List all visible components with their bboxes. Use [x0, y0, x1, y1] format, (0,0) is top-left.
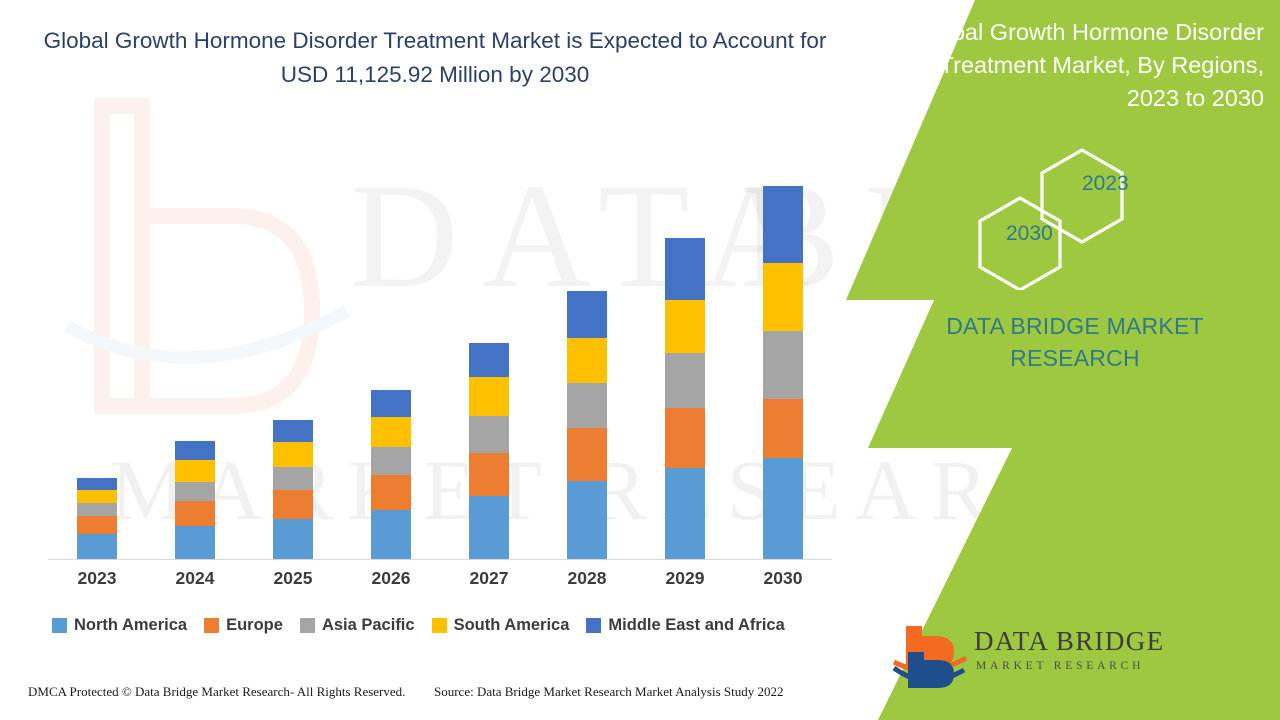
- segment-north-america: [763, 458, 803, 559]
- legend-item-south-america[interactable]: South America: [432, 616, 570, 635]
- x-axis-line: [48, 559, 832, 560]
- x-label-2029: 2029: [640, 568, 730, 589]
- segment-middle-east-and-africa: [273, 420, 313, 442]
- segment-south-america: [665, 300, 705, 353]
- segment-south-america: [469, 377, 509, 416]
- legend-swatch-icon: [586, 618, 601, 633]
- bar-2026: [371, 390, 411, 559]
- data-bridge-logo: DATA BRIDGE MARKET RESEARCH: [892, 622, 1192, 694]
- segment-south-america: [175, 460, 215, 482]
- segment-europe: [665, 408, 705, 468]
- legend-label: Middle East and Africa: [608, 616, 784, 635]
- page-title: Global Growth Hormone Disorder Treatment…: [30, 24, 840, 92]
- bar-2028: [567, 291, 607, 559]
- legend-swatch-icon: [52, 618, 67, 633]
- x-axis-labels: 20232024202520262027202820292030: [48, 568, 832, 596]
- segment-north-america: [567, 481, 607, 559]
- segment-asia-pacific: [665, 353, 705, 408]
- bar-2024: [175, 441, 215, 559]
- x-label-2030: 2030: [738, 568, 828, 589]
- segment-asia-pacific: [567, 383, 607, 428]
- segment-europe: [273, 490, 313, 519]
- segment-middle-east-and-africa: [567, 291, 607, 338]
- segment-south-america: [371, 417, 411, 447]
- segment-asia-pacific: [469, 416, 509, 453]
- segment-middle-east-and-africa: [469, 343, 509, 377]
- logo-mark-icon: [892, 622, 970, 692]
- legend-swatch-icon: [300, 618, 315, 633]
- footer-copyright: DMCA Protected © Data Bridge Market Rese…: [28, 684, 405, 700]
- segment-asia-pacific: [763, 331, 803, 399]
- segment-europe: [763, 399, 803, 458]
- segment-europe: [175, 501, 215, 526]
- segment-middle-east-and-africa: [77, 478, 117, 490]
- segment-europe: [371, 475, 411, 510]
- hexagon-group: 2023 2030: [970, 140, 1200, 290]
- x-label-2024: 2024: [150, 568, 240, 589]
- legend-label: Asia Pacific: [322, 616, 415, 635]
- x-label-2028: 2028: [542, 568, 632, 589]
- segment-north-america: [175, 526, 215, 559]
- segment-europe: [77, 516, 117, 534]
- segment-asia-pacific: [77, 503, 117, 516]
- legend-item-asia-pacific[interactable]: Asia Pacific: [300, 616, 415, 635]
- legend-label: North America: [74, 616, 187, 635]
- segment-south-america: [567, 338, 607, 383]
- segment-europe: [469, 453, 509, 496]
- segment-middle-east-and-africa: [665, 238, 705, 300]
- segment-south-america: [77, 490, 117, 503]
- segment-north-america: [273, 519, 313, 559]
- segment-south-america: [763, 263, 803, 331]
- x-label-2025: 2025: [248, 568, 338, 589]
- x-label-2027: 2027: [444, 568, 534, 589]
- brand-name: DATA BRIDGE MARKET RESEARCH: [900, 310, 1250, 374]
- legend-item-europe[interactable]: Europe: [204, 616, 283, 635]
- stacked-bar-chart: [48, 150, 832, 560]
- legend-swatch-icon: [204, 618, 219, 633]
- chart-legend: North AmericaEuropeAsia PacificSouth Ame…: [52, 616, 842, 635]
- x-label-2023: 2023: [52, 568, 142, 589]
- hex-label-end-year: 2030: [1006, 222, 1053, 246]
- segment-north-america: [77, 534, 117, 559]
- legend-item-middle-east-and-africa[interactable]: Middle East and Africa: [586, 616, 784, 635]
- bar-2025: [273, 420, 313, 559]
- bar-2023: [77, 478, 117, 559]
- logo-text-sub: MARKET RESEARCH: [976, 660, 1144, 672]
- bar-2029: [665, 238, 705, 559]
- legend-swatch-icon: [432, 618, 447, 633]
- segment-south-america: [273, 442, 313, 467]
- footer-source: Source: Data Bridge Market Research Mark…: [434, 684, 783, 700]
- legend-label: Europe: [226, 616, 283, 635]
- segment-asia-pacific: [273, 467, 313, 490]
- x-label-2026: 2026: [346, 568, 436, 589]
- logo-text-main: DATA BRIDGE: [974, 626, 1164, 657]
- bar-2027: [469, 343, 509, 559]
- segment-middle-east-and-africa: [763, 186, 803, 263]
- panel-title: Global Growth Hormone Disorder Treatment…: [886, 16, 1264, 115]
- segment-europe: [567, 428, 607, 481]
- legend-item-north-america[interactable]: North America: [52, 616, 187, 635]
- legend-label: South America: [454, 616, 570, 635]
- segment-asia-pacific: [175, 482, 215, 501]
- segment-asia-pacific: [371, 447, 411, 475]
- segment-north-america: [665, 468, 705, 559]
- segment-middle-east-and-africa: [371, 390, 411, 417]
- segment-north-america: [371, 510, 411, 559]
- hexagon-outlines-icon: [970, 140, 1200, 290]
- hex-label-start-year: 2023: [1082, 172, 1129, 196]
- segment-middle-east-and-africa: [175, 441, 215, 460]
- infographic-page: DATA BRIDGE MARKET RESEARCH Global Growt…: [0, 0, 1280, 720]
- bar-2030: [763, 186, 803, 559]
- segment-north-america: [469, 496, 509, 559]
